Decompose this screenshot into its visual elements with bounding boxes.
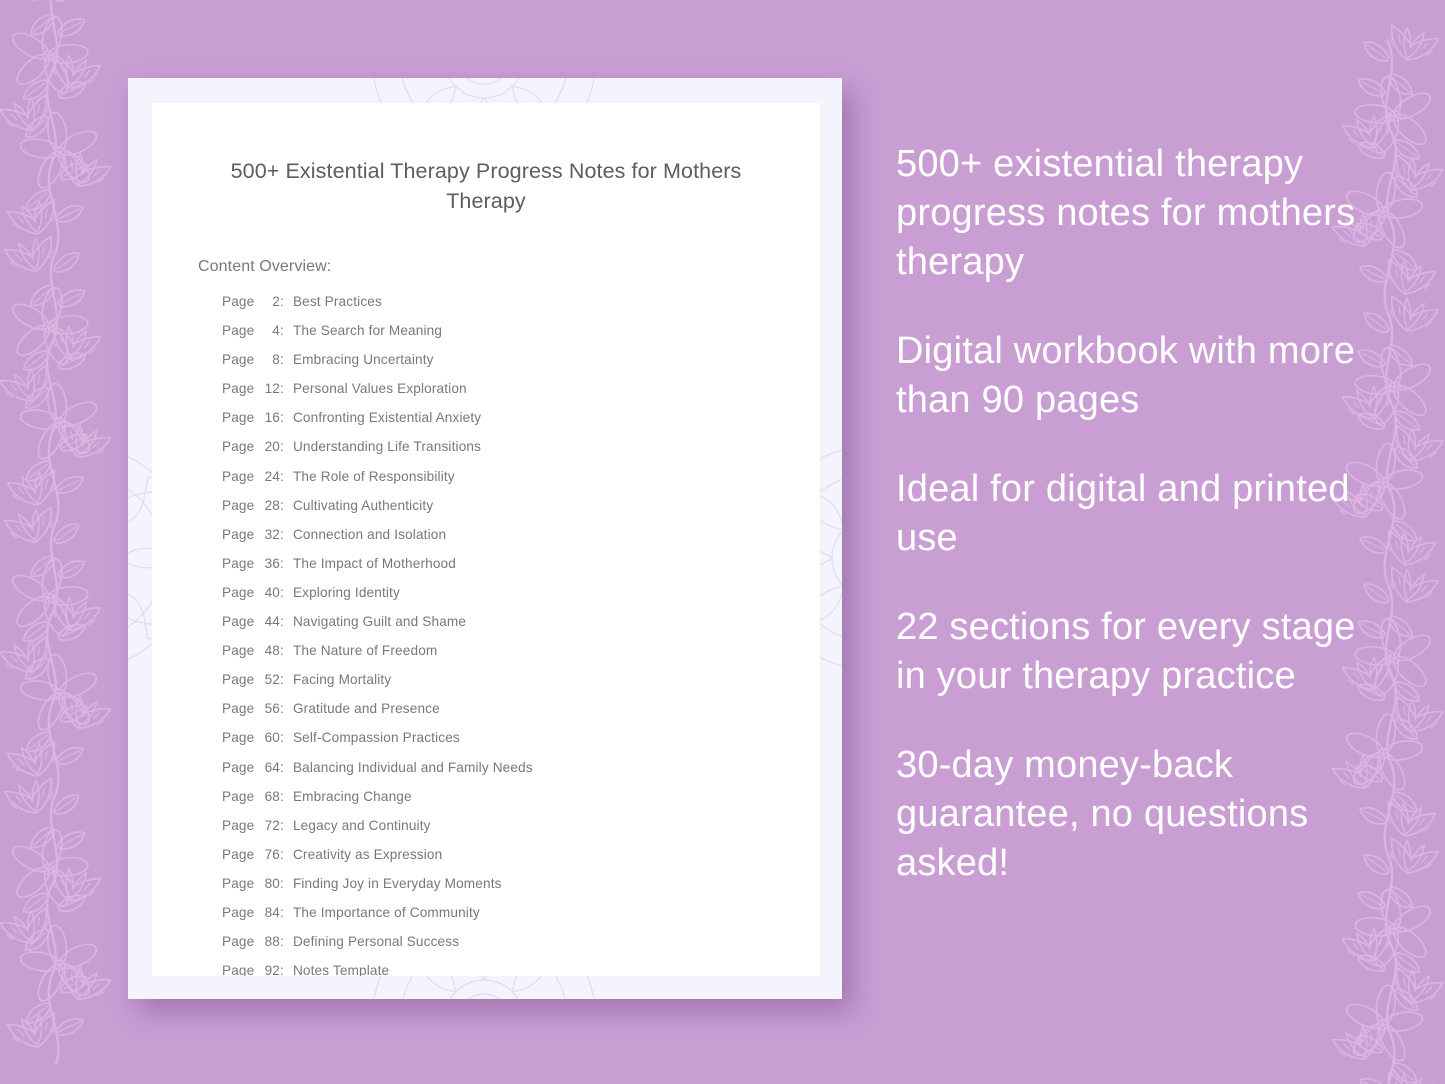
- toc-entry-page-word: Page: [222, 672, 256, 687]
- toc-entry-separator: :: [280, 730, 293, 745]
- toc-entry: Page80:Finding Joy in Everyday Moments: [222, 876, 820, 905]
- toc-entry-separator: :: [280, 614, 293, 629]
- toc-entry-page-number: 56: [256, 701, 280, 716]
- toc-entry-separator: :: [280, 789, 293, 804]
- toc-entry: Page20:Understanding Life Transitions: [222, 439, 820, 468]
- marketing-bullet: Ideal for digital and printed use: [896, 465, 1364, 563]
- toc-entry-page-word: Page: [222, 498, 256, 513]
- toc-entry-title: Facing Mortality: [293, 672, 391, 687]
- toc-entry-page-number: 68: [256, 789, 280, 804]
- toc-entry-page-number: 72: [256, 818, 280, 833]
- toc-entry-separator: :: [280, 381, 293, 396]
- toc-entry-separator: :: [280, 556, 293, 571]
- toc-entry-page-word: Page: [222, 323, 256, 338]
- toc-entry-page-word: Page: [222, 469, 256, 484]
- toc-entry-page-word: Page: [222, 789, 256, 804]
- toc-entry: Page12:Personal Values Exploration: [222, 381, 820, 410]
- toc-entry-separator: :: [280, 672, 293, 687]
- toc-entry: Page64:Balancing Individual and Family N…: [222, 760, 820, 789]
- toc-entry-page-number: 52: [256, 672, 280, 687]
- toc-entry-page-word: Page: [222, 847, 256, 862]
- toc-entry-separator: :: [280, 469, 293, 484]
- toc-entry-title: Finding Joy in Everyday Moments: [293, 876, 502, 891]
- toc-entry: Page76:Creativity as Expression: [222, 847, 820, 876]
- marketing-bullets: 500+ existential therapy progress notes …: [896, 140, 1364, 888]
- marketing-bullet: 500+ existential therapy progress notes …: [896, 140, 1364, 287]
- toc-entry: Page44:Navigating Guilt and Shame: [222, 614, 820, 643]
- toc-entry-page-word: Page: [222, 352, 256, 367]
- toc-entry-page-number: 80: [256, 876, 280, 891]
- content-overview-label: Content Overview:: [198, 258, 820, 276]
- toc-entry-page-number: 76: [256, 847, 280, 862]
- toc-entry-page-number: 32: [256, 527, 280, 542]
- toc-entry-page-number: 40: [256, 585, 280, 600]
- toc-entry-title: Connection and Isolation: [293, 527, 446, 542]
- toc-entry-separator: :: [280, 643, 293, 658]
- toc-entry-page-word: Page: [222, 701, 256, 716]
- toc-entry-separator: :: [280, 701, 293, 716]
- toc-entry-page-number: 4: [256, 323, 280, 338]
- toc-entry: Page68:Embracing Change: [222, 789, 820, 818]
- toc-entry-separator: :: [280, 847, 293, 862]
- toc-entry-page-word: Page: [222, 439, 256, 454]
- toc-entry: Page4:The Search for Meaning: [222, 323, 820, 352]
- toc-entry: Page40:Exploring Identity: [222, 585, 820, 614]
- toc-entry-title: Self-Compassion Practices: [293, 730, 460, 745]
- toc-entry-page-number: 92: [256, 963, 280, 976]
- toc-entry-page-number: 16: [256, 410, 280, 425]
- toc-entry-page-word: Page: [222, 818, 256, 833]
- toc-entry-page-number: 88: [256, 934, 280, 949]
- toc-entry-title: The Importance of Community: [293, 905, 480, 920]
- toc-entry-page-number: 84: [256, 905, 280, 920]
- toc-entry-title: Legacy and Continuity: [293, 818, 431, 833]
- toc-entry-separator: :: [280, 876, 293, 891]
- toc-entry-separator: :: [280, 294, 293, 309]
- toc-entry: Page48:The Nature of Freedom: [222, 643, 820, 672]
- toc-entry-page-word: Page: [222, 963, 256, 976]
- toc-entry-separator: :: [280, 760, 293, 775]
- toc-entry-title: Creativity as Expression: [293, 847, 442, 862]
- toc-entry-title: Best Practices: [293, 294, 382, 309]
- workbook-page: 500+ Existential Therapy Progress Notes …: [152, 103, 820, 976]
- toc-entry-page-word: Page: [222, 905, 256, 920]
- toc-entry-page-number: 24: [256, 469, 280, 484]
- toc-entry: Page52:Facing Mortality: [222, 672, 820, 701]
- toc-entry-title: Exploring Identity: [293, 585, 400, 600]
- toc-entry-page-number: 12: [256, 381, 280, 396]
- toc-entry: Page60:Self-Compassion Practices: [222, 730, 820, 759]
- toc-entry: Page88:Defining Personal Success: [222, 934, 820, 963]
- page-title: 500+ Existential Therapy Progress Notes …: [204, 156, 768, 216]
- toc-entry-page-word: Page: [222, 294, 256, 309]
- toc-entry-page-number: 48: [256, 643, 280, 658]
- toc-entry-page-number: 44: [256, 614, 280, 629]
- toc-entry-title: The Role of Responsibility: [293, 469, 455, 484]
- toc-entry-title: Embracing Uncertainty: [293, 352, 434, 367]
- toc-entry-separator: :: [280, 585, 293, 600]
- table-of-contents: Page2:Best PracticesPage4:The Search for…: [222, 294, 820, 976]
- toc-entry: Page2:Best Practices: [222, 294, 820, 323]
- toc-entry-page-word: Page: [222, 934, 256, 949]
- toc-entry: Page56:Gratitude and Presence: [222, 701, 820, 730]
- toc-entry-page-word: Page: [222, 556, 256, 571]
- toc-entry-page-word: Page: [222, 643, 256, 658]
- toc-entry-separator: :: [280, 934, 293, 949]
- toc-entry-title: Understanding Life Transitions: [293, 439, 481, 454]
- toc-entry-page-number: 60: [256, 730, 280, 745]
- toc-entry-title: Defining Personal Success: [293, 934, 459, 949]
- toc-entry-page-number: 20: [256, 439, 280, 454]
- toc-entry-title: Notes Template: [293, 963, 389, 976]
- toc-entry-page-word: Page: [222, 585, 256, 600]
- toc-entry: Page32:Connection and Isolation: [222, 527, 820, 556]
- toc-entry-page-number: 2: [256, 294, 280, 309]
- toc-entry: Page84:The Importance of Community: [222, 905, 820, 934]
- toc-entry: Page72:Legacy and Continuity: [222, 818, 820, 847]
- toc-entry-separator: :: [280, 439, 293, 454]
- toc-entry-title: Cultivating Authenticity: [293, 498, 433, 513]
- toc-entry-separator: :: [280, 323, 293, 338]
- toc-entry-title: Personal Values Exploration: [293, 381, 467, 396]
- listing-image: 500+ Existential Therapy Progress Notes …: [0, 0, 1445, 1084]
- toc-entry-page-word: Page: [222, 876, 256, 891]
- toc-entry-title: Gratitude and Presence: [293, 701, 440, 716]
- toc-entry-title: Balancing Individual and Family Needs: [293, 760, 533, 775]
- toc-entry: Page8:Embracing Uncertainty: [222, 352, 820, 381]
- toc-entry-title: Navigating Guilt and Shame: [293, 614, 466, 629]
- toc-entry-separator: :: [280, 905, 293, 920]
- marketing-bullet: 30-day money-back guarantee, no question…: [896, 741, 1364, 888]
- toc-entry-separator: :: [280, 352, 293, 367]
- toc-entry-page-number: 28: [256, 498, 280, 513]
- toc-entry-title: Confronting Existential Anxiety: [293, 410, 481, 425]
- toc-entry: Page92:Notes Template: [222, 963, 820, 976]
- toc-entry-title: The Impact of Motherhood: [293, 556, 456, 571]
- toc-entry-page-word: Page: [222, 730, 256, 745]
- floral-border-left-decoration: [0, 0, 116, 1084]
- toc-entry-title: Embracing Change: [293, 789, 412, 804]
- toc-entry-separator: :: [280, 818, 293, 833]
- toc-entry-page-number: 8: [256, 352, 280, 367]
- toc-entry-page-word: Page: [222, 760, 256, 775]
- toc-entry-page-number: 64: [256, 760, 280, 775]
- toc-entry: Page16:Confronting Existential Anxiety: [222, 410, 820, 439]
- workbook-preview-card: 500+ Existential Therapy Progress Notes …: [128, 78, 842, 999]
- marketing-bullet: 22 sections for every stage in your ther…: [896, 603, 1364, 701]
- toc-entry-page-word: Page: [222, 614, 256, 629]
- marketing-bullet: Digital workbook with more than 90 pages: [896, 327, 1364, 425]
- toc-entry-title: The Nature of Freedom: [293, 643, 437, 658]
- toc-entry-separator: :: [280, 527, 293, 542]
- toc-entry-page-word: Page: [222, 381, 256, 396]
- toc-entry-title: The Search for Meaning: [293, 323, 442, 338]
- toc-entry: Page28:Cultivating Authenticity: [222, 498, 820, 527]
- toc-entry-separator: :: [280, 498, 293, 513]
- toc-entry-separator: :: [280, 963, 293, 976]
- toc-entry: Page24:The Role of Responsibility: [222, 469, 820, 498]
- toc-entry-page-word: Page: [222, 410, 256, 425]
- toc-entry: Page36:The Impact of Motherhood: [222, 556, 820, 585]
- toc-entry-separator: :: [280, 410, 293, 425]
- toc-entry-page-number: 36: [256, 556, 280, 571]
- toc-entry-page-word: Page: [222, 527, 256, 542]
